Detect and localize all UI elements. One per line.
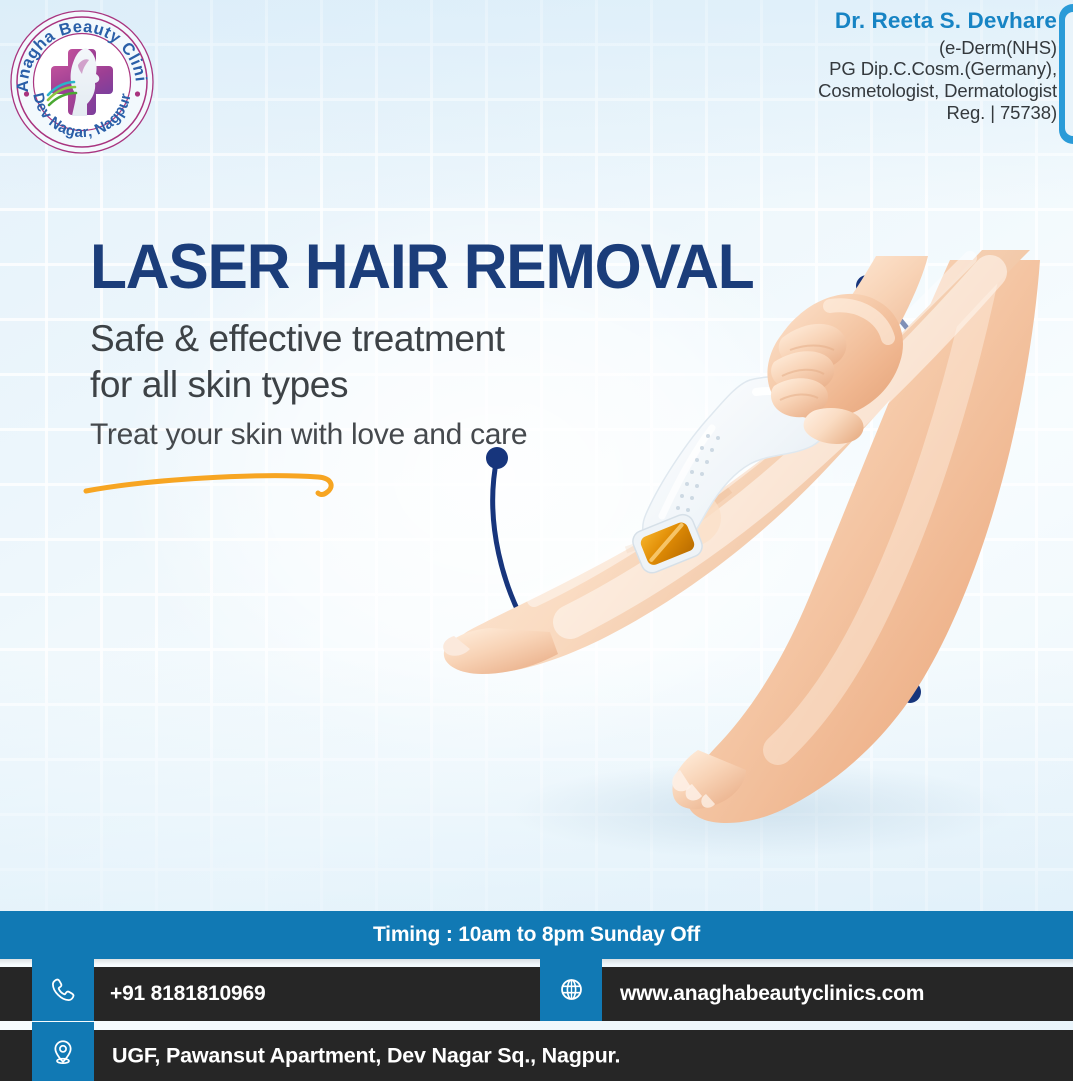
timing-bar: Timing : 10am to 8pm Sunday Off (0, 911, 1073, 959)
phone-number-text[interactable]: +91 8181810969 (110, 982, 265, 1006)
laser-hair-removal-illustration (430, 250, 1073, 890)
contact-row-primary: +91 8181810969 www.anaghabeautyclinics.c… (0, 967, 1073, 1021)
doctor-credential-line-1: (e-Derm(NHS) (818, 37, 1057, 59)
subheading-line-2: for all skin types (90, 362, 348, 408)
timing-text: Timing : 10am to 8pm Sunday Off (373, 923, 700, 947)
contact-row-address: UGF, Pawansut Apartment, Dev Nagar Sq., … (0, 1030, 1073, 1081)
clinic-logo: Anagha Beauty Clinic Dev Nagar, Nagpur (8, 8, 156, 156)
website-icon-tab[interactable] (540, 958, 602, 1021)
doctor-name: Dr. Reeta S. Devhare (818, 8, 1057, 35)
timing-bar-shadow (0, 959, 1073, 965)
location-icon-tab[interactable] (32, 1022, 94, 1081)
right-edge-accent-inner (1065, 12, 1073, 136)
poster-canvas: Anagha Beauty Clinic Dev Nagar, Nagpur D… (0, 0, 1073, 1081)
doctor-credential-line-2: PG Dip.C.Cosm.(Germany), (818, 58, 1057, 80)
phone-icon (49, 976, 77, 1004)
doctor-credential-line-4: Reg. | 75738) (818, 102, 1057, 124)
orange-underline-swoosh (80, 455, 350, 510)
globe-icon (558, 976, 585, 1003)
phone-icon-tab[interactable] (32, 958, 94, 1021)
website-text[interactable]: www.anaghabeautyclinics.com (620, 982, 924, 1006)
doctor-credentials: Dr. Reeta S. Devhare (e-Derm(NHS) PG Dip… (818, 8, 1057, 124)
doctor-credential-line-3: Cosmetologist, Dermatologist (818, 80, 1057, 102)
location-pin-icon (49, 1038, 77, 1066)
address-text[interactable]: UGF, Pawansut Apartment, Dev Nagar Sq., … (112, 1043, 620, 1068)
logo-svg: Anagha Beauty Clinic Dev Nagar, Nagpur (8, 8, 156, 156)
